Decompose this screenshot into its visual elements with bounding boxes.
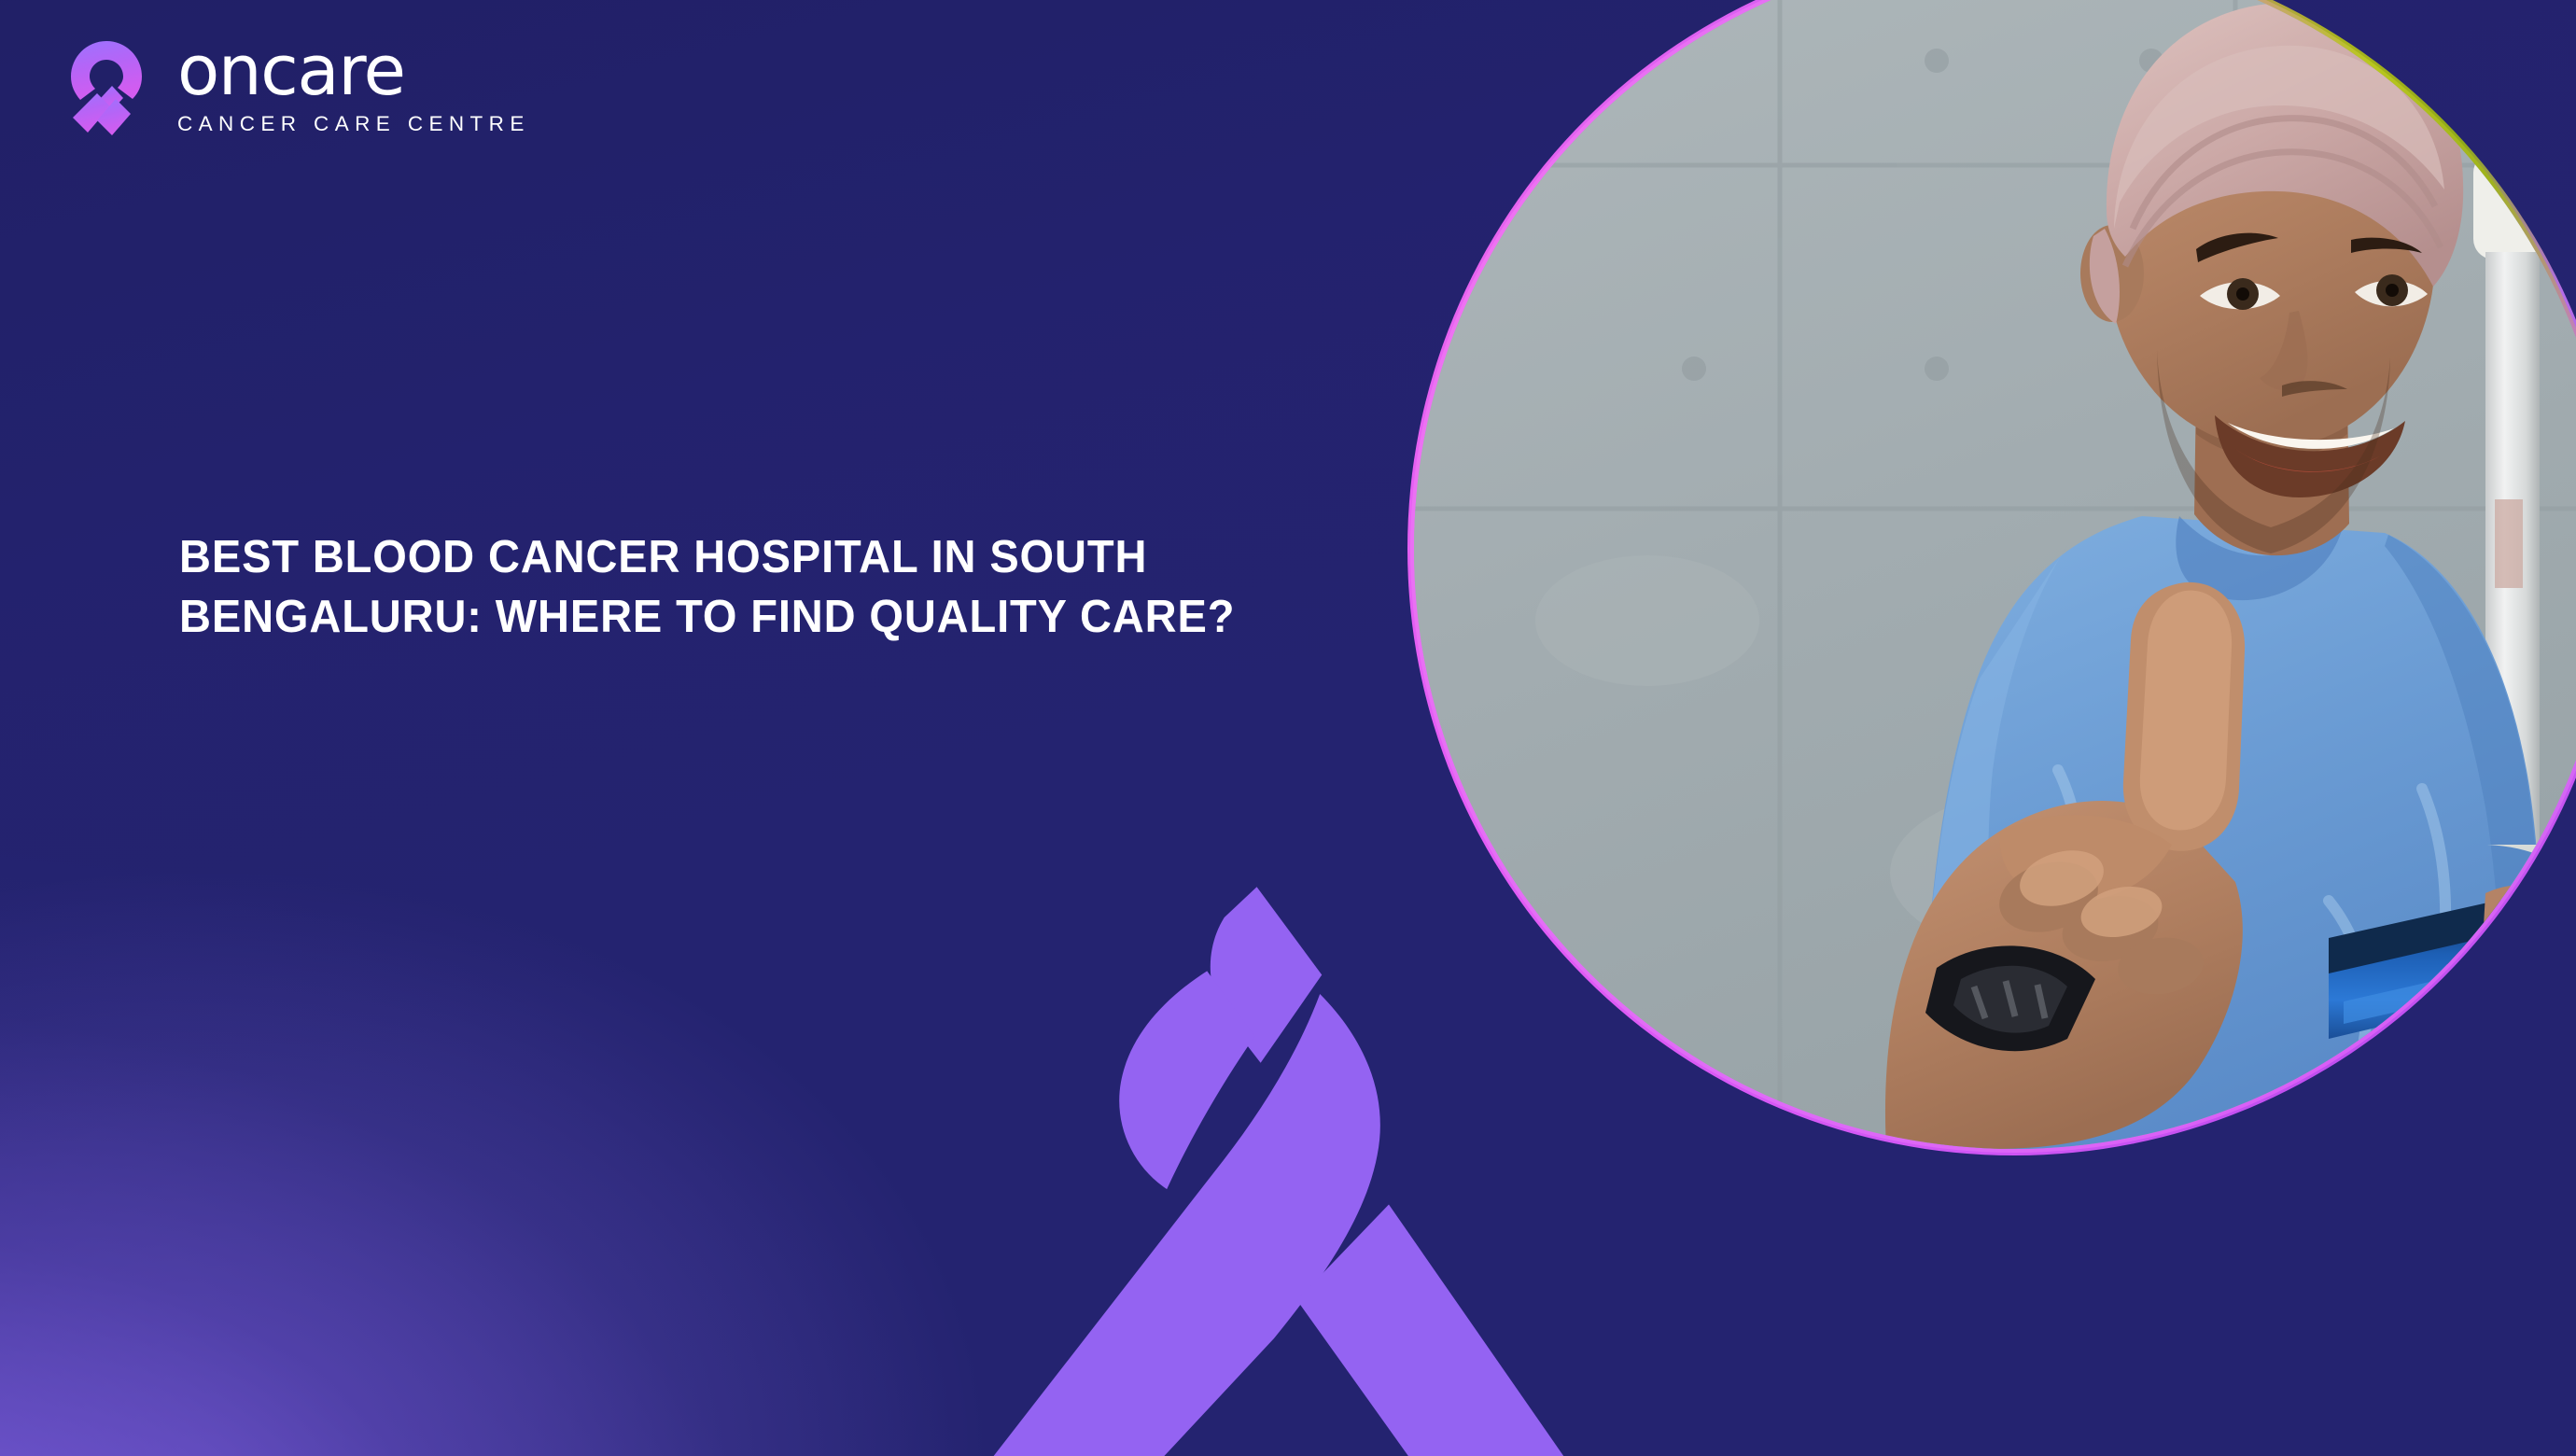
awareness-ribbon-icon [56,35,157,140]
page-title: BEST BLOOD CANCER HOSPITAL IN SOUTH BENG… [179,528,1237,647]
brand-tagline: CANCER CARE CENTRE [177,112,530,136]
brand-logo-text: oncare CANCER CARE CENTRE [177,39,530,136]
brand-wordmark: oncare [177,39,530,103]
brand-logo[interactable]: oncare CANCER CARE CENTRE [56,35,530,140]
hero-banner: oncare CANCER CARE CENTRE BEST BLOOD CAN… [0,0,2576,1456]
patient-thumbs-up-photo [1414,0,2576,1149]
